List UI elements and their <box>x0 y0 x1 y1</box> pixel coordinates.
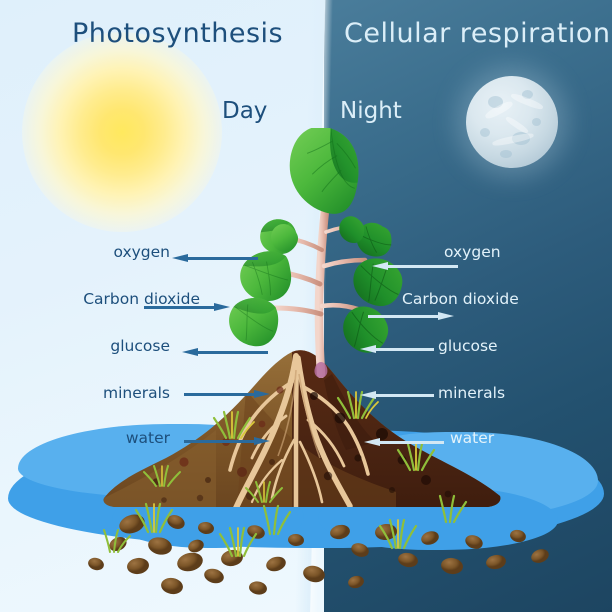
night-arrow-carbon-dioxide <box>368 312 454 321</box>
day-label-minerals: minerals <box>0 384 170 402</box>
day-arrow-minerals <box>184 390 270 399</box>
moon-icon <box>466 76 558 168</box>
night-label-carbon-dioxide: Carbon dioxide <box>402 290 519 308</box>
time-label-night: Night <box>340 98 402 124</box>
night-arrow-water <box>364 438 444 447</box>
night-label-glucose: glucose <box>438 337 498 355</box>
page-title-photosynthesis: Photosynthesis <box>72 18 283 49</box>
time-label-day: Day <box>222 98 267 124</box>
night-label-water: water <box>450 429 494 447</box>
pebbles-and-shore-grass <box>0 470 612 612</box>
plant <box>225 128 415 378</box>
night-arrow-glucose <box>360 345 434 354</box>
day-arrow-water <box>184 437 270 446</box>
night-label-minerals: minerals <box>438 384 505 402</box>
sun-icon <box>22 32 222 232</box>
night-arrow-minerals <box>360 391 434 400</box>
day-arrow-carbon-dioxide <box>144 303 230 312</box>
day-label-glucose: glucose <box>0 337 170 355</box>
day-arrow-oxygen <box>172 254 258 263</box>
photosynthesis-respiration-diagram: Photosynthesis Cellular respiration Day … <box>0 0 612 612</box>
day-arrow-glucose <box>182 348 268 357</box>
day-label-water: water <box>0 429 170 447</box>
night-arrow-oxygen <box>372 262 458 271</box>
day-label-oxygen: oxygen <box>0 243 170 261</box>
night-label-oxygen: oxygen <box>444 243 501 261</box>
page-title-cellular-respiration: Cellular respiration <box>344 18 611 49</box>
